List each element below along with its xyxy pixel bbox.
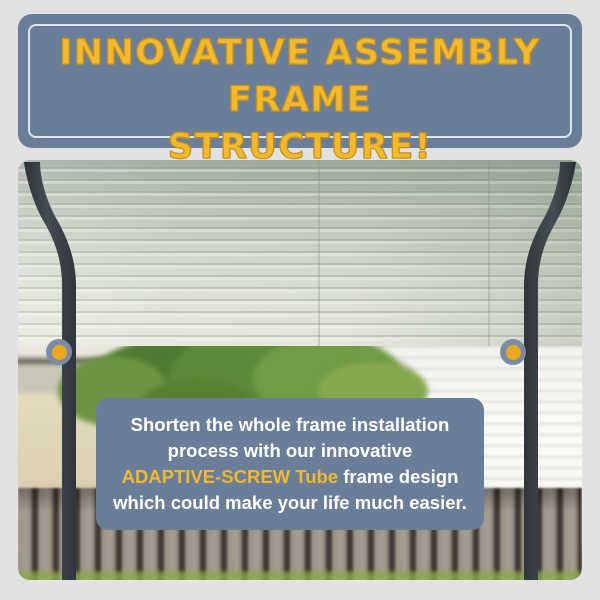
- header-banner: INNOVATIVE ASSEMBLY FRAME STRUCTURE!: [18, 14, 582, 148]
- callout-line-4: which could make your life much easier.: [112, 490, 468, 516]
- callout-line-3: ADAPTIVE-SCREW Tube frame design: [112, 464, 468, 490]
- carport-roof: [18, 160, 582, 350]
- roof-seam: [318, 160, 320, 350]
- product-feature-image: INNOVATIVE ASSEMBLY FRAME STRUCTURE!: [0, 0, 600, 600]
- roof-seam: [488, 160, 490, 350]
- callout-highlight: ADAPTIVE-SCREW Tube: [122, 466, 339, 487]
- screw-marker-right: [500, 339, 526, 365]
- banner-title: INNOVATIVE ASSEMBLY FRAME STRUCTURE!: [18, 30, 582, 171]
- feature-callout: Shorten the whole frame installation pro…: [96, 398, 484, 530]
- roof-sheen: [18, 160, 582, 350]
- callout-line-1: Shorten the whole frame installation: [112, 412, 468, 438]
- screw-marker-left: [46, 339, 72, 365]
- callout-line-3-rest: frame design: [338, 466, 458, 487]
- fence-base-grass: [18, 571, 582, 580]
- callout-line-2: process with our innovative: [112, 438, 468, 464]
